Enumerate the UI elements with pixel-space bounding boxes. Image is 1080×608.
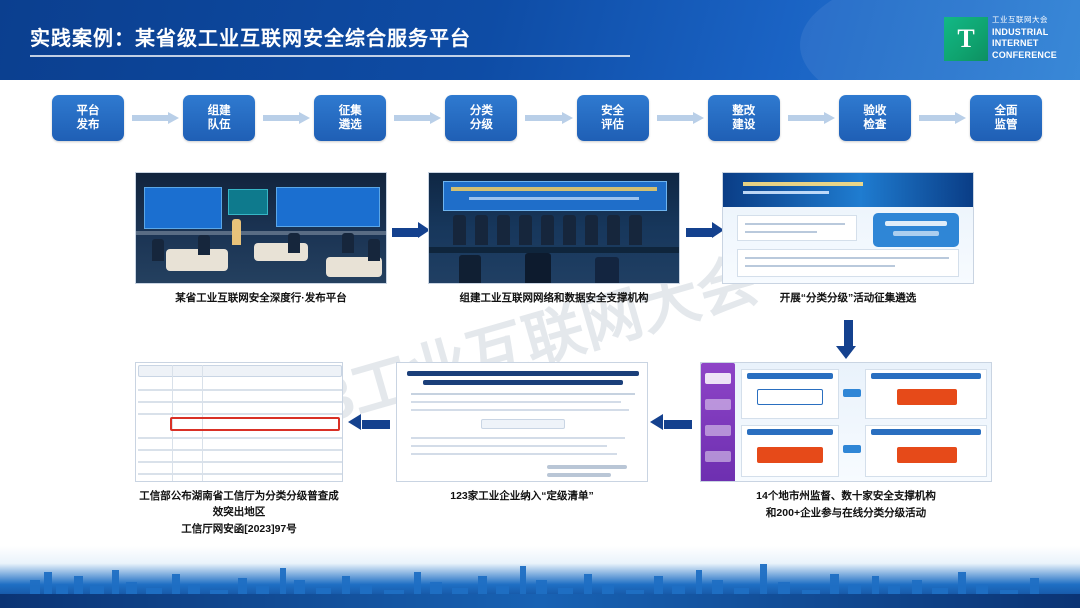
card-notice-caption-line2: 工信厅网安函[2023]97号	[135, 522, 343, 538]
card-list: 123家工业企业纳入“定级清单”	[396, 362, 648, 505]
flow-arrow-6	[782, 112, 837, 124]
flow-node-4-line2: 分级	[470, 118, 493, 132]
flow-node-1-line2: 发布	[77, 118, 100, 132]
slide-header: 实践案例：某省级工业互联网安全综合服务平台 T 工业互联网大会 INDUSTRI…	[0, 0, 1080, 80]
flow-node-1[interactable]: 平台 发布	[52, 95, 124, 141]
logo-mark-letter: T	[957, 26, 974, 52]
conference-logo-text: 工业互联网大会 INDUSTRIAL INTERNET CONFERENCE	[992, 14, 1072, 61]
card-team: 组建工业互联网网络和数据安全支撑机构	[428, 172, 680, 307]
footer-bar	[0, 594, 1080, 608]
connector-online-to-list	[650, 416, 694, 434]
flow-node-7-line1: 验收	[863, 104, 886, 118]
card-notice: 工信部公布湖南省工信厅为分类分级普查成效突出地区 工信厅网安函[2023]97号	[135, 362, 343, 537]
flow-node-5-line1: 安全	[601, 104, 624, 118]
card-list-caption: 123家工业企业纳入“定级清单”	[396, 489, 648, 505]
flow-node-5[interactable]: 安全 评估	[577, 95, 649, 141]
flow-node-6-line2: 建设	[732, 118, 755, 132]
flow-node-6-line1: 整改	[732, 104, 755, 118]
slide-root: 实践案例：某省级工业互联网安全综合服务平台 T 工业互联网大会 INDUSTRI…	[0, 0, 1080, 608]
flow-node-3-line2: 遴选	[339, 118, 362, 132]
card-team-caption: 组建工业互联网网络和数据安全支撑机构	[428, 291, 680, 307]
connector-list-to-notice	[348, 416, 392, 434]
card-collect: 开展“分类分级”活动征集遴选	[722, 172, 974, 307]
flow-node-3-line1: 征集	[339, 104, 362, 118]
slide-footer	[0, 546, 1080, 608]
flow-node-2-line2: 队伍	[208, 118, 231, 132]
card-online: 14个地市州监督、数十家安全支撑机构 和200+企业参与在线分类分级活动	[700, 362, 992, 522]
card-notice-caption-line1: 工信部公布湖南省工信厅为分类分级普查成效突出地区	[135, 489, 343, 521]
card-collect-image	[722, 172, 974, 284]
flow-arrow-4	[519, 112, 574, 124]
flow-arrow-3	[388, 112, 443, 124]
logo-text-en-1: INDUSTRIAL	[992, 27, 1072, 38]
flow-node-2-line1: 组建	[208, 104, 231, 118]
page-title: 实践案例：某省级工业互联网安全综合服务平台	[30, 22, 471, 51]
flow-node-8-line1: 全面	[994, 104, 1017, 118]
connector-collect-to-online	[838, 320, 860, 360]
logo-text-en-3: CONFERENCE	[992, 50, 1072, 61]
flow-arrow-2	[257, 112, 312, 124]
card-notice-image	[135, 362, 343, 482]
flow-arrow-5	[651, 112, 706, 124]
logo-text-en-2: INTERNET	[992, 38, 1072, 49]
flow-node-2[interactable]: 组建 队伍	[183, 95, 255, 141]
card-meeting: 某省工业互联网安全深度行·发布平台	[135, 172, 387, 307]
flow-node-4-line1: 分类	[470, 104, 493, 118]
flow-node-4[interactable]: 分类 分级	[445, 95, 517, 141]
card-online-caption-line1: 14个地市州监督、数十家安全支撑机构	[700, 489, 992, 505]
conference-logo-icon: T	[944, 17, 988, 61]
flow-arrow-7	[913, 112, 968, 124]
card-online-caption-line2: 和200+企业参与在线分类分级活动	[700, 506, 992, 522]
card-team-image	[428, 172, 680, 284]
card-meeting-image	[135, 172, 387, 284]
flow-node-6[interactable]: 整改 建设	[708, 95, 780, 141]
title-underline	[30, 55, 630, 57]
process-flow: 平台 发布 组建 队伍 征集 遴选 分类 分级 安全 评估 整改 建设	[52, 93, 1042, 143]
flow-arrow-1	[126, 112, 181, 124]
card-collect-caption: 开展“分类分级”活动征集遴选	[722, 291, 974, 307]
flow-node-1-line1: 平台	[77, 104, 100, 118]
card-list-image	[396, 362, 648, 482]
card-meeting-caption: 某省工业互联网安全深度行·发布平台	[135, 291, 387, 307]
flow-node-7[interactable]: 验收 检查	[839, 95, 911, 141]
flow-node-8[interactable]: 全面 监管	[970, 95, 1042, 141]
flow-node-8-line2: 监管	[994, 118, 1017, 132]
connector-meeting-to-team	[392, 224, 430, 242]
connector-team-to-collect	[686, 224, 724, 242]
flow-node-7-line2: 检查	[863, 118, 886, 132]
flow-node-3[interactable]: 征集 遴选	[314, 95, 386, 141]
card-online-image	[700, 362, 992, 482]
flow-node-5-line2: 评估	[601, 118, 624, 132]
logo-text-cn: 工业互联网大会	[992, 14, 1072, 25]
